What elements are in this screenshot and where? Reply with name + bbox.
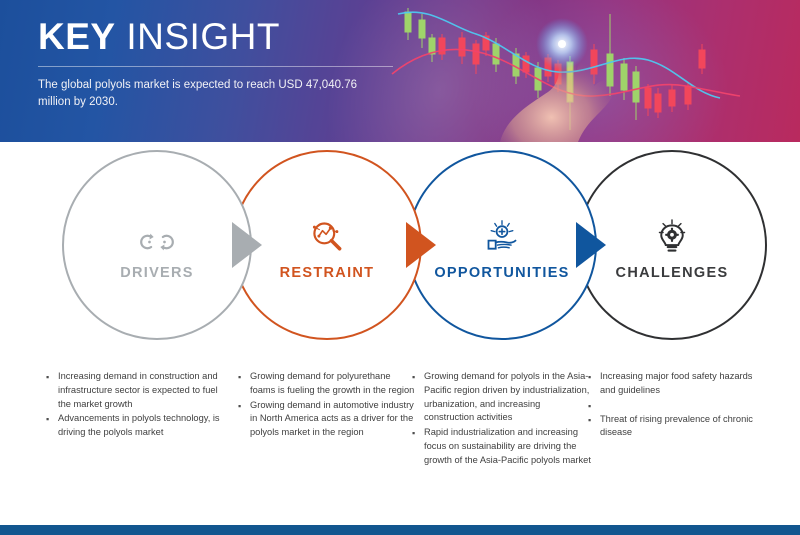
footer-accent-bar bbox=[0, 525, 800, 535]
bullet-marker: ▪ bbox=[46, 370, 58, 384]
chevron-arrow-drivers-to-restraint bbox=[232, 222, 262, 268]
infographic-page: KEY INSIGHT The global polyols market is… bbox=[0, 0, 800, 535]
cycle-arrows-icon bbox=[137, 209, 177, 255]
bullet-column-opportunities: ▪ Growing demand for polyols in the Asia… bbox=[412, 370, 592, 468]
chevron-arrow-opportunities-to-challenges bbox=[576, 222, 606, 268]
page-title-strong: KEY bbox=[38, 16, 116, 57]
bullet-marker: ▪ bbox=[412, 370, 424, 384]
list-item-empty: ▪ bbox=[588, 399, 768, 412]
bullet-marker: ▪ bbox=[46, 412, 58, 426]
bullet-marker: ▪ bbox=[238, 399, 250, 413]
bullet-text: Rapid industrialization and increasing f… bbox=[424, 426, 592, 467]
bullet-column-restraint: ▪ Growing demand for polyurethane foams … bbox=[238, 370, 418, 441]
list-item: ▪ Growing demand for polyurethane foams … bbox=[238, 370, 418, 398]
bullet-marker: ▪ bbox=[588, 413, 600, 427]
candlestick-chart-with-hand-photo bbox=[380, 0, 800, 142]
header-text-block: KEY INSIGHT The global polyols market is… bbox=[38, 18, 398, 111]
list-item: ▪ Growing demand in automotive industry … bbox=[238, 399, 418, 440]
list-item: ▪ Increasing major food safety hazards a… bbox=[588, 370, 768, 398]
bullet-marker: ▪ bbox=[588, 370, 600, 384]
bullet-marker: ▪ bbox=[412, 426, 424, 440]
bullet-text: Increasing demand in construction and in… bbox=[58, 370, 226, 411]
bullet-text: Growing demand in automotive industry in… bbox=[250, 399, 418, 440]
bullet-column-challenges: ▪ Increasing major food safety hazards a… bbox=[588, 370, 768, 441]
list-item: ▪ Threat of rising prevalence of chronic… bbox=[588, 413, 768, 441]
stage-label-drivers: DRIVERS bbox=[120, 265, 194, 281]
list-item: ▪ Growing demand for polyols in the Asia… bbox=[412, 370, 592, 425]
bullet-text: Advancements in polyols technology, is d… bbox=[58, 412, 226, 440]
lightbulb-gear-icon bbox=[655, 209, 689, 255]
bullet-marker: ▪ bbox=[238, 370, 250, 384]
bullet-column-drivers: ▪ Increasing demand in construction and … bbox=[46, 370, 226, 441]
list-item: ▪ Advancements in polyols technology, is… bbox=[46, 412, 226, 440]
bullet-text: Threat of rising prevalence of chronic d… bbox=[600, 413, 768, 441]
bullet-text: Growing demand for polyols in the Asia-P… bbox=[424, 370, 592, 425]
magnifier-chart-icon bbox=[309, 209, 345, 255]
bullet-marker: ▪ bbox=[588, 399, 600, 413]
stage-label-opportunities: OPPORTUNITIES bbox=[434, 265, 569, 281]
header-subtitle: The global polyols market is expected to… bbox=[38, 77, 368, 112]
page-title-light: INSIGHT bbox=[126, 16, 280, 57]
stage-label-challenges: CHALLENGES bbox=[616, 265, 729, 281]
list-item: ▪ Increasing demand in construction and … bbox=[46, 370, 226, 411]
bullet-text: Increasing major food safety hazards and… bbox=[600, 370, 768, 398]
page-title: KEY INSIGHT bbox=[38, 18, 398, 57]
stage-label-restraint: RESTRAINT bbox=[280, 265, 375, 281]
hand-holding-coin-icon bbox=[483, 209, 521, 255]
bullet-text: Growing demand for polyurethane foams is… bbox=[250, 370, 418, 398]
chevron-arrow-restraint-to-opportunities bbox=[406, 222, 436, 268]
header-banner: KEY INSIGHT The global polyols market is… bbox=[0, 0, 800, 142]
title-divider bbox=[38, 66, 393, 67]
stage-circle-drivers[interactable]: DRIVERS bbox=[62, 150, 252, 340]
bullet-columns: ▪ Increasing demand in construction and … bbox=[0, 370, 800, 490]
list-item: ▪ Rapid industrialization and increasing… bbox=[412, 426, 592, 467]
stage-circle-row: DRIVERS RESTRAINT bbox=[0, 150, 800, 360]
